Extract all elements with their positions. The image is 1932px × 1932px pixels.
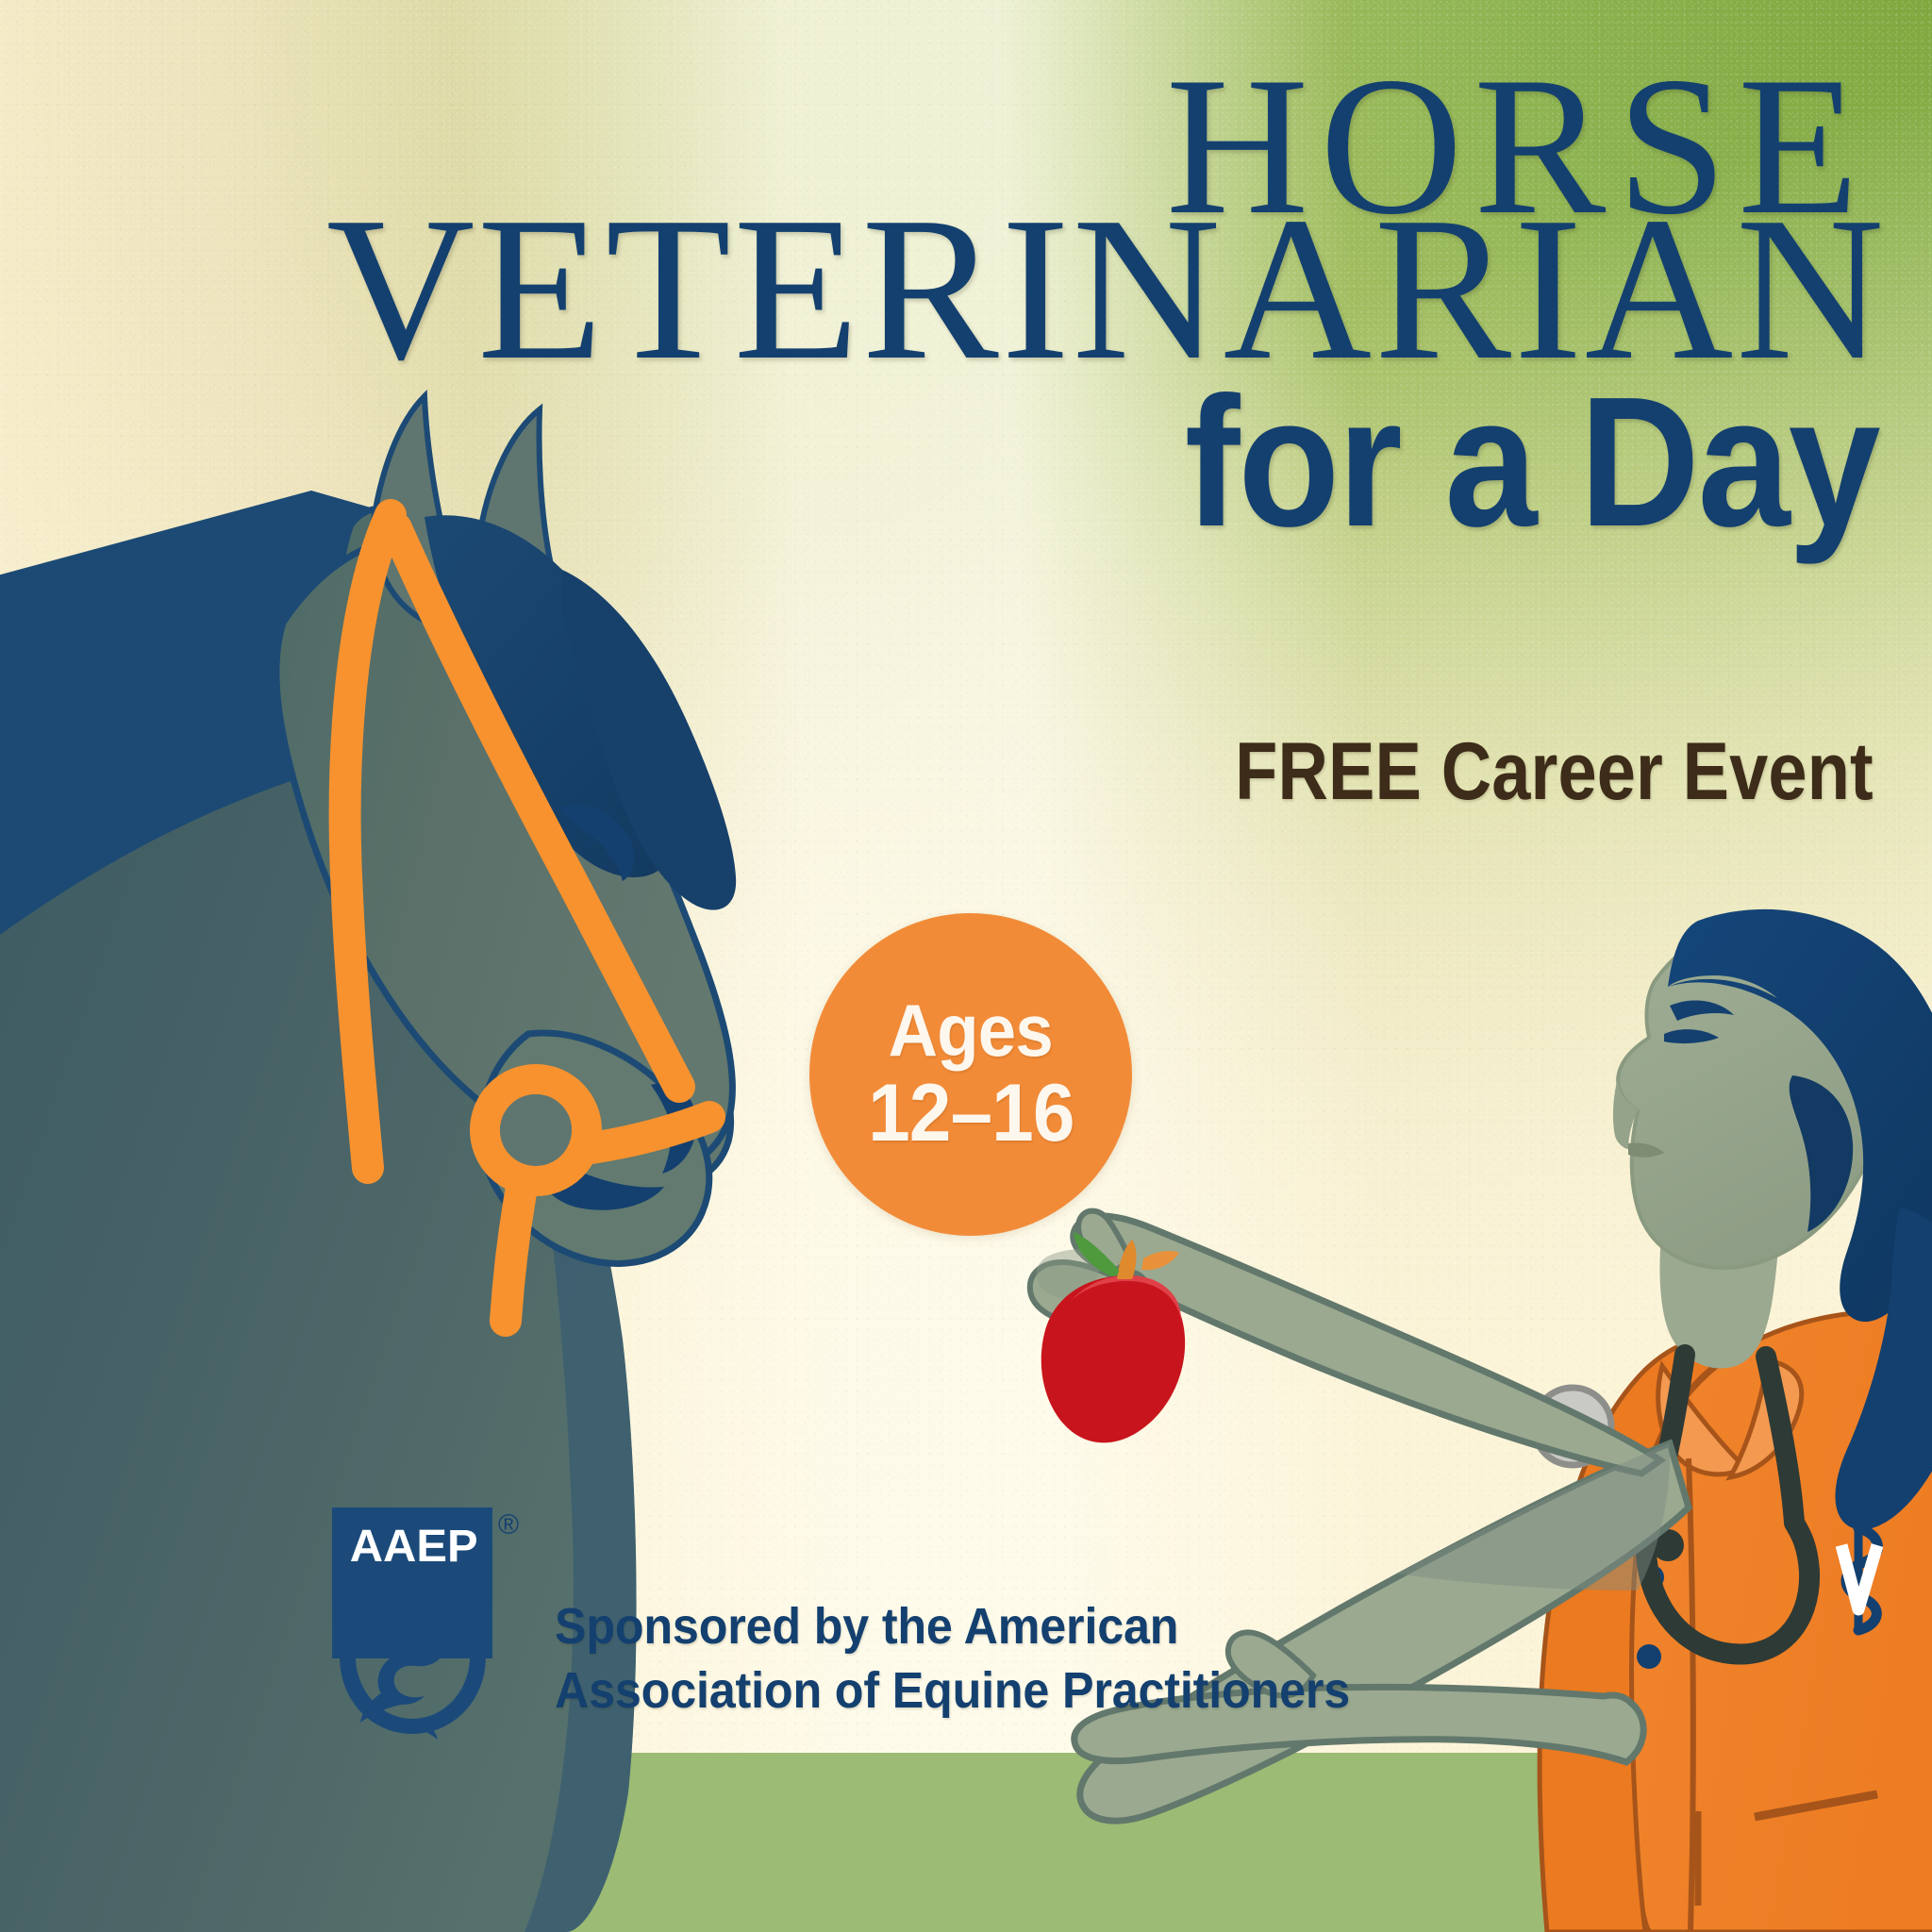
poster-canvas: HORSE VETERINARIAN for a Day FREE Career… bbox=[0, 0, 1932, 1932]
sponsor-text: Sponsored by the American Association of… bbox=[555, 1526, 1350, 1723]
red-apple-icon bbox=[1036, 1232, 1185, 1442]
vet-button bbox=[1637, 1644, 1661, 1669]
ages-label: Ages bbox=[889, 993, 1053, 1069]
aaep-logo: AAEP ® bbox=[332, 1507, 492, 1741]
sponsor-line-1: Sponsored by the American bbox=[555, 1594, 1350, 1658]
subtitle-free-career-event: FREE Career Event bbox=[1235, 731, 1874, 812]
aaep-wordmark: AAEP bbox=[350, 1521, 478, 1571]
vet-arm-shadow bbox=[1396, 1443, 1670, 1591]
aaep-horse-mark-icon bbox=[340, 1581, 486, 1740]
aaep-logo-svg: AAEP bbox=[332, 1507, 492, 1741]
halter-ring-inner bbox=[500, 1094, 572, 1166]
ages-range: 12–16 bbox=[868, 1073, 1074, 1156]
veterinarian-illustration bbox=[1030, 909, 1932, 1932]
ages-badge: Ages 12–16 bbox=[809, 913, 1132, 1236]
title-line-for-a-day: for a Day bbox=[1185, 370, 1879, 555]
sponsor-line-2: Association of Equine Practitioners bbox=[555, 1658, 1350, 1723]
registered-trademark-symbol: ® bbox=[498, 1509, 519, 1541]
sponsor-block: AAEP ® Sponsored by the American Associa… bbox=[332, 1507, 1410, 1741]
apple-body bbox=[1041, 1275, 1185, 1442]
